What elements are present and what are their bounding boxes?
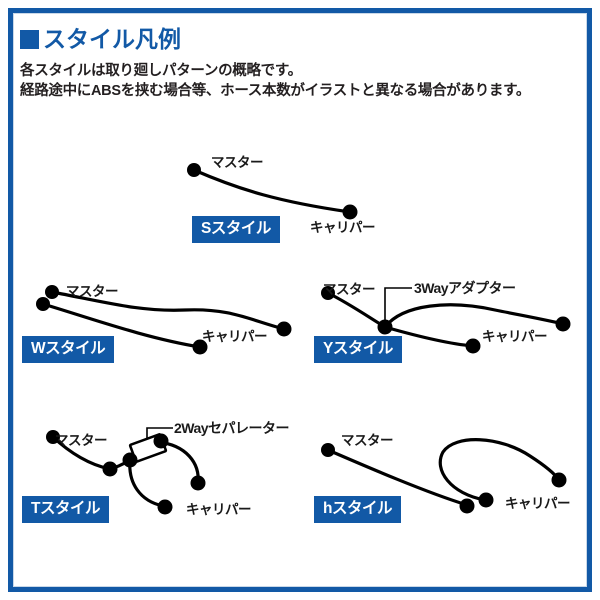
description-block: 各スタイルは取り廻しパターンの概略です。 経路途中にABSを挟む場合等、ホース本… bbox=[20, 61, 580, 101]
header-block: スタイル凡例 各スタイルは取り廻しパターンの概略です。 経路途中にABSを挟む場… bbox=[20, 24, 580, 101]
style-legend-page: スタイル凡例 各スタイルは取り廻しパターンの概略です。 経路途中にABSを挟む場… bbox=[0, 0, 600, 600]
title-row: スタイル凡例 bbox=[20, 24, 580, 54]
page-title: スタイル凡例 bbox=[43, 28, 181, 51]
description-line-1: 各スタイルは取り廻しパターンの概略です。 bbox=[20, 61, 580, 81]
title-bullet-square-icon bbox=[20, 30, 39, 49]
description-line-2: 経路途中にABSを挟む場合等、ホース本数がイラストと異なる場合があります。 bbox=[20, 81, 580, 101]
